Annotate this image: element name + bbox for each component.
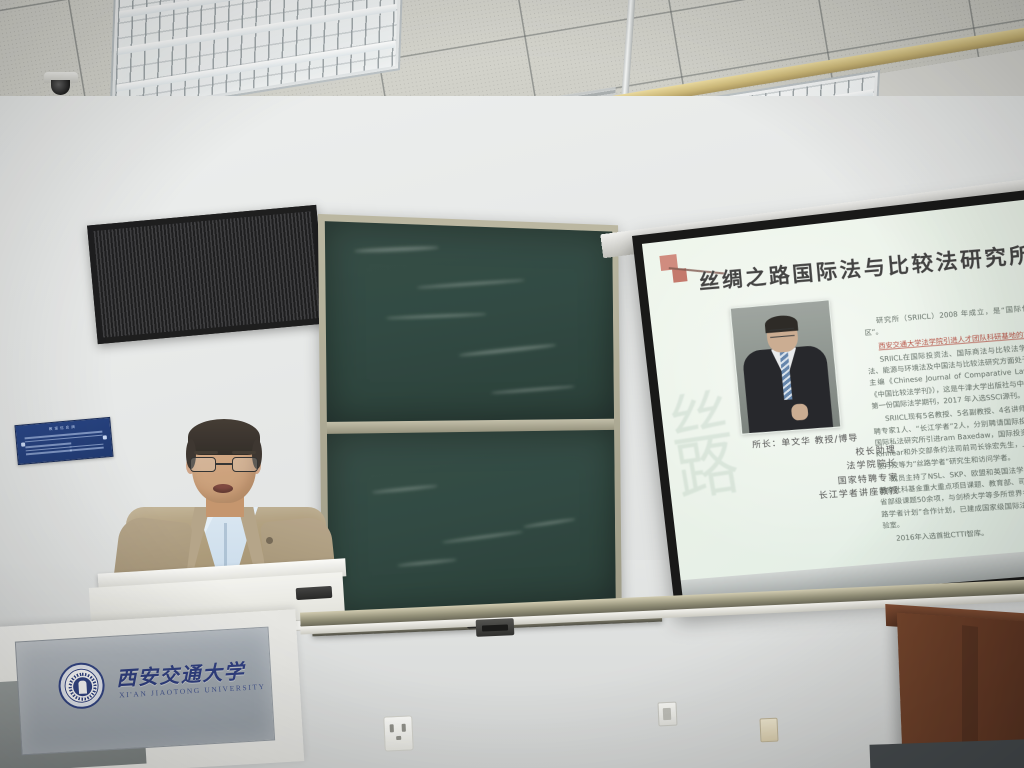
led-pixel-matrix bbox=[94, 211, 321, 337]
wall-plaque: 教室信息牌 bbox=[14, 417, 113, 465]
xjtu-seal-icon bbox=[57, 661, 106, 710]
dome-camera-icon bbox=[44, 72, 78, 94]
slide-paragraph: SRIICL现有5名教授、5名副教授、4名讲师，包括国家特聘专家1人、“长江学者… bbox=[872, 401, 1024, 473]
camera-dome bbox=[51, 80, 70, 95]
lecture-hall-photo: 教室信息牌 bbox=[0, 0, 1024, 768]
slide-portrait-photo bbox=[730, 299, 842, 434]
presenter-hair bbox=[188, 419, 260, 455]
projection-screen[interactable]: 丝路 丝绸之路国际法与比较法研究所 所长：单文华 教授/博导 校长助理 法学院院… bbox=[632, 188, 1024, 615]
jacket-zipper-pull bbox=[266, 537, 273, 544]
chalkboard-panel-bottom bbox=[327, 430, 616, 619]
presenter-mouth bbox=[213, 484, 233, 493]
eyeglasses-icon bbox=[190, 457, 258, 472]
slide-accent-square bbox=[672, 268, 687, 283]
light-switch[interactable] bbox=[657, 702, 677, 727]
podium-control-panel[interactable] bbox=[296, 586, 333, 600]
led-display-panel[interactable] bbox=[87, 205, 327, 344]
ceiling-projector-bracket bbox=[476, 618, 515, 637]
chalkboard-surface bbox=[325, 221, 616, 618]
chalkboard-panel-top bbox=[325, 221, 614, 424]
wall-sensor bbox=[759, 718, 778, 743]
slide-body-text: 研究所（SRIICL）2008 年成立，是“国际化战略示范区”。 西安交通大学法… bbox=[863, 301, 1024, 549]
slide-paragraph: 成员主持了NSL、SKP、欧盟和英国法学会的研究项目和国家社科基金重大重点项目课… bbox=[878, 461, 1024, 532]
wall-power-outlet[interactable] bbox=[383, 715, 413, 751]
podium-university-sign: 西安交通大学 XI'AN JIAOTONG UNIVERSITY bbox=[15, 627, 275, 756]
floor-strip bbox=[870, 739, 1024, 768]
presentation-slide: 丝路 丝绸之路国际法与比较法研究所 所长：单文华 教授/博导 校长助理 法学院院… bbox=[642, 198, 1024, 604]
green-chalkboard bbox=[318, 214, 622, 626]
